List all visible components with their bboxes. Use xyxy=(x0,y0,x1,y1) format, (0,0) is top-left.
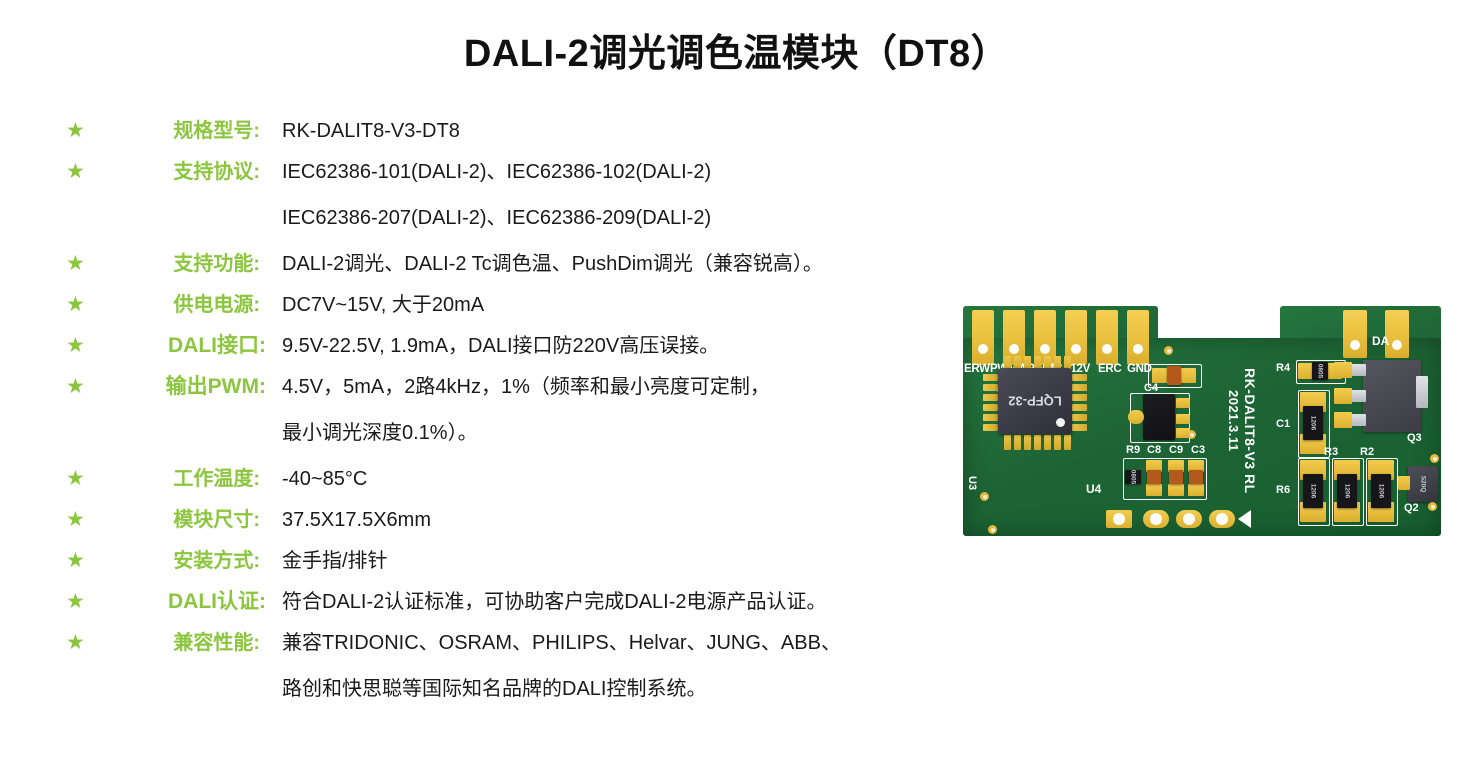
star-icon: ★ xyxy=(66,157,92,187)
mosfet-lead xyxy=(1350,390,1366,402)
part-code: 1206 xyxy=(1344,484,1351,498)
component-regulator xyxy=(1143,394,1175,440)
gold-finger xyxy=(1127,310,1149,365)
star-icon: ★ xyxy=(66,546,92,576)
spec-value-line: IEC62386-207(DALI-2)、IEC62386-209(DALI-2… xyxy=(282,203,946,233)
spec-value-line: 符合DALI-2认证标准，可协助客户完成DALI-2电源产品认证。 xyxy=(282,591,827,613)
refdes-c3: C3 xyxy=(1191,444,1205,456)
spec-row-functions: ★ 支持功能: DALI-2调光、DALI-2 Tc调色温、PushDim调光（… xyxy=(66,249,946,283)
spec-value-line: DC7V~15V, 大于20mA xyxy=(282,294,484,316)
star-icon: ★ xyxy=(66,587,92,617)
component-r2: 1206 xyxy=(1371,474,1391,508)
solder-pad xyxy=(1188,484,1204,496)
spec-value: 符合DALI-2认证标准，可协助客户完成DALI-2电源产品认证。 xyxy=(282,587,946,617)
spec-row-compatibility: ★ 兼容性能: 兼容TRIDONIC、OSRAM、PHILIPS、Helvar、… xyxy=(66,628,946,704)
spec-value: 9.5V-22.5V, 1.9mA，DALI接口防220V高压误接。 xyxy=(282,331,946,361)
part-code: 1206 xyxy=(1310,484,1317,498)
spec-row-dali-interface: ★ DALI接口: 9.5V-22.5V, 1.9mA，DALI接口防220V高… xyxy=(66,331,946,365)
spec-value-line: 兼容TRIDONIC、OSRAM、PHILIPS、Helvar、JUNG、ABB… xyxy=(282,632,841,654)
solder-pad xyxy=(1176,414,1190,424)
component-c1: 1206 xyxy=(1303,406,1323,440)
spec-value: DC7V~15V, 大于20mA xyxy=(282,290,946,320)
star-icon: ★ xyxy=(66,464,92,494)
component-c8 xyxy=(1147,470,1161,484)
via xyxy=(1164,346,1173,355)
refdes-q3: Q3 xyxy=(1407,432,1422,444)
test-pad xyxy=(1209,510,1235,528)
refdes-r9: R9 xyxy=(1126,444,1140,456)
part-code: 1206 xyxy=(1310,416,1317,430)
spec-value-line: 最小调光深度0.1%）。 xyxy=(282,418,946,448)
component-c4 xyxy=(1167,366,1181,385)
refdes-r2: R2 xyxy=(1360,446,1374,458)
spec-value-line: 4.5V，5mA，2路4kHz，1%（频率和最小亮度可定制， xyxy=(282,376,770,398)
refdes-c1: C1 xyxy=(1276,418,1290,430)
via xyxy=(980,492,989,501)
spec-value-line: IEC62386-101(DALI-2)、IEC62386-102(DALI-2… xyxy=(282,161,711,183)
refdes-u4: U4 xyxy=(1086,482,1101,496)
star-icon: ★ xyxy=(66,290,92,320)
spec-row-pwm-output: ★ 输出PWM: 4.5V，5mA，2路4kHz，1%（频率和最小亮度可定制， … xyxy=(66,372,946,448)
refdes-r4: R4 xyxy=(1276,362,1290,374)
spec-label: 工作温度: xyxy=(92,464,260,494)
component-q3 xyxy=(1363,360,1421,432)
spec-label: 输出PWM: xyxy=(92,372,266,402)
spec-label: 安装方式: xyxy=(92,546,260,576)
mosfet-lead xyxy=(1350,364,1366,376)
gold-finger xyxy=(972,310,994,365)
test-pad xyxy=(1176,510,1202,528)
spec-row-mounting: ★ 安装方式: 金手指/排针 xyxy=(66,546,946,580)
mosfet-lead xyxy=(1350,414,1366,426)
star-icon: ★ xyxy=(66,505,92,535)
refdes-c9: C9 xyxy=(1169,444,1183,456)
spec-row-dimensions: ★ 模块尺寸: 37.5X17.5X6mm xyxy=(66,505,946,539)
solder-pad xyxy=(1334,412,1352,428)
via xyxy=(1430,454,1439,463)
part-code: S20Q xyxy=(1420,476,1427,493)
spec-value: RK-DALIT8-V3-DT8 xyxy=(282,116,946,146)
product-spec-page: DALI-2调光调色温模块（DT8） ★ 规格型号: RK-DALIT8-V3-… xyxy=(0,0,1473,783)
chip-marking: LQFP-32 xyxy=(1008,394,1061,409)
spec-label: 模块尺寸: xyxy=(92,505,260,535)
silkscreen-model: RK-DALIT8-V3 RL xyxy=(1242,368,1258,494)
spec-row-model: ★ 规格型号: RK-DALIT8-V3-DT8 xyxy=(66,116,946,150)
chip-pin1-dot xyxy=(1056,418,1065,427)
spec-value-line: 金手指/排针 xyxy=(282,550,388,572)
solder-pad xyxy=(1128,410,1144,424)
spec-value: 兼容TRIDONIC、OSRAM、PHILIPS、Helvar、JUNG、ABB… xyxy=(282,628,946,704)
spec-value: IEC62386-101(DALI-2)、IEC62386-102(DALI-2… xyxy=(282,157,946,233)
component-c3 xyxy=(1189,470,1203,484)
star-icon: ★ xyxy=(66,628,92,658)
spec-value: DALI-2调光、DALI-2 Tc调色温、PushDim调光（兼容锐高）。 xyxy=(282,249,946,279)
via xyxy=(1428,502,1437,511)
test-pad xyxy=(1143,510,1169,528)
component-r6: 1206 xyxy=(1303,474,1323,508)
gold-finger-da xyxy=(1343,310,1367,358)
part-code: 0805 xyxy=(1317,364,1324,378)
spec-row-certification: ★ DALI认证: 符合DALI-2认证标准，可协助客户完成DALI-2电源产品… xyxy=(66,587,946,621)
gold-finger xyxy=(1096,310,1118,365)
pin-label-erc: ERC xyxy=(1098,363,1121,375)
solder-pad xyxy=(1168,484,1184,496)
refdes-r3: R3 xyxy=(1324,446,1338,458)
page-title: DALI-2调光调色温模块（DT8） xyxy=(0,22,1473,77)
star-icon: ★ xyxy=(66,249,92,279)
spec-value: 金手指/排针 xyxy=(282,546,946,576)
pcb-board-image: ERW PWMW PWMC +12V ERC GND DA xyxy=(958,306,1448,546)
solder-pad xyxy=(1176,398,1190,408)
solder-pad xyxy=(1146,484,1162,496)
spec-value-line: 路创和快思聪等国际知名品牌的DALI控制系统。 xyxy=(282,674,946,704)
star-icon: ★ xyxy=(66,372,92,402)
component-r3: 1206 xyxy=(1337,474,1357,508)
spec-row-power: ★ 供电电源: DC7V~15V, 大于20mA xyxy=(66,290,946,324)
part-code: 0805 xyxy=(1130,470,1137,484)
solder-pad xyxy=(1334,362,1352,378)
part-code: 1206 xyxy=(1378,484,1385,498)
pin-label-da: DA xyxy=(1372,334,1389,348)
component-c9 xyxy=(1169,470,1183,484)
spec-label: DALI接口: xyxy=(92,331,266,361)
refdes-r6: R6 xyxy=(1276,484,1290,496)
spec-label: 规格型号: xyxy=(92,116,260,146)
spec-value: -40~85°C xyxy=(282,464,946,494)
spec-label: 兼容性能: xyxy=(92,628,260,658)
star-icon: ★ xyxy=(66,331,92,361)
test-pad xyxy=(1106,510,1132,528)
solder-pad xyxy=(1176,428,1190,438)
spec-list: ★ 规格型号: RK-DALIT8-V3-DT8 ★ 支持协议: IEC6238… xyxy=(66,116,946,711)
solder-pad xyxy=(1334,388,1352,404)
solder-pad xyxy=(1398,476,1410,490)
spec-value-line: DALI-2调光、DALI-2 Tc调色温、PushDim调光（兼容锐高）。 xyxy=(282,253,823,275)
silkscreen-date: 2021.3.11 xyxy=(1226,390,1241,452)
spec-value-line: 37.5X17.5X6mm xyxy=(282,509,431,531)
mosfet-tab xyxy=(1416,376,1428,408)
spec-value-line: -40~85°C xyxy=(282,468,367,490)
spec-value-line: 9.5V-22.5V, 1.9mA，DALI接口防220V高压误接。 xyxy=(282,335,719,357)
spec-row-protocol: ★ 支持协议: IEC62386-101(DALI-2)、IEC62386-10… xyxy=(66,157,946,233)
spec-label: 支持功能: xyxy=(92,249,260,279)
via xyxy=(988,525,997,534)
component-r9: 0805 xyxy=(1125,470,1141,484)
spec-label: 供电电源: xyxy=(92,290,260,320)
spec-label: DALI认证: xyxy=(92,587,266,617)
chip-lqfp32: LQFP-32 xyxy=(998,368,1072,434)
component-q2: S20Q xyxy=(1408,466,1438,502)
spec-label: 支持协议: xyxy=(92,157,260,187)
star-icon: ★ xyxy=(66,116,92,146)
refdes-u3: U3 xyxy=(966,476,978,490)
spec-row-temperature: ★ 工作温度: -40~85°C xyxy=(66,464,946,498)
refdes-q2: Q2 xyxy=(1404,502,1419,514)
spec-value: 4.5V，5mA，2路4kHz，1%（频率和最小亮度可定制， 最小调光深度0.1… xyxy=(282,372,946,448)
component-r4: 0805 xyxy=(1312,362,1328,380)
spec-value-line: RK-DALIT8-V3-DT8 xyxy=(282,120,460,142)
refdes-c8: C8 xyxy=(1147,444,1161,456)
polarity-marker-icon xyxy=(1238,510,1251,528)
spec-value: 37.5X17.5X6mm xyxy=(282,505,946,535)
solder-pad xyxy=(1298,363,1313,379)
